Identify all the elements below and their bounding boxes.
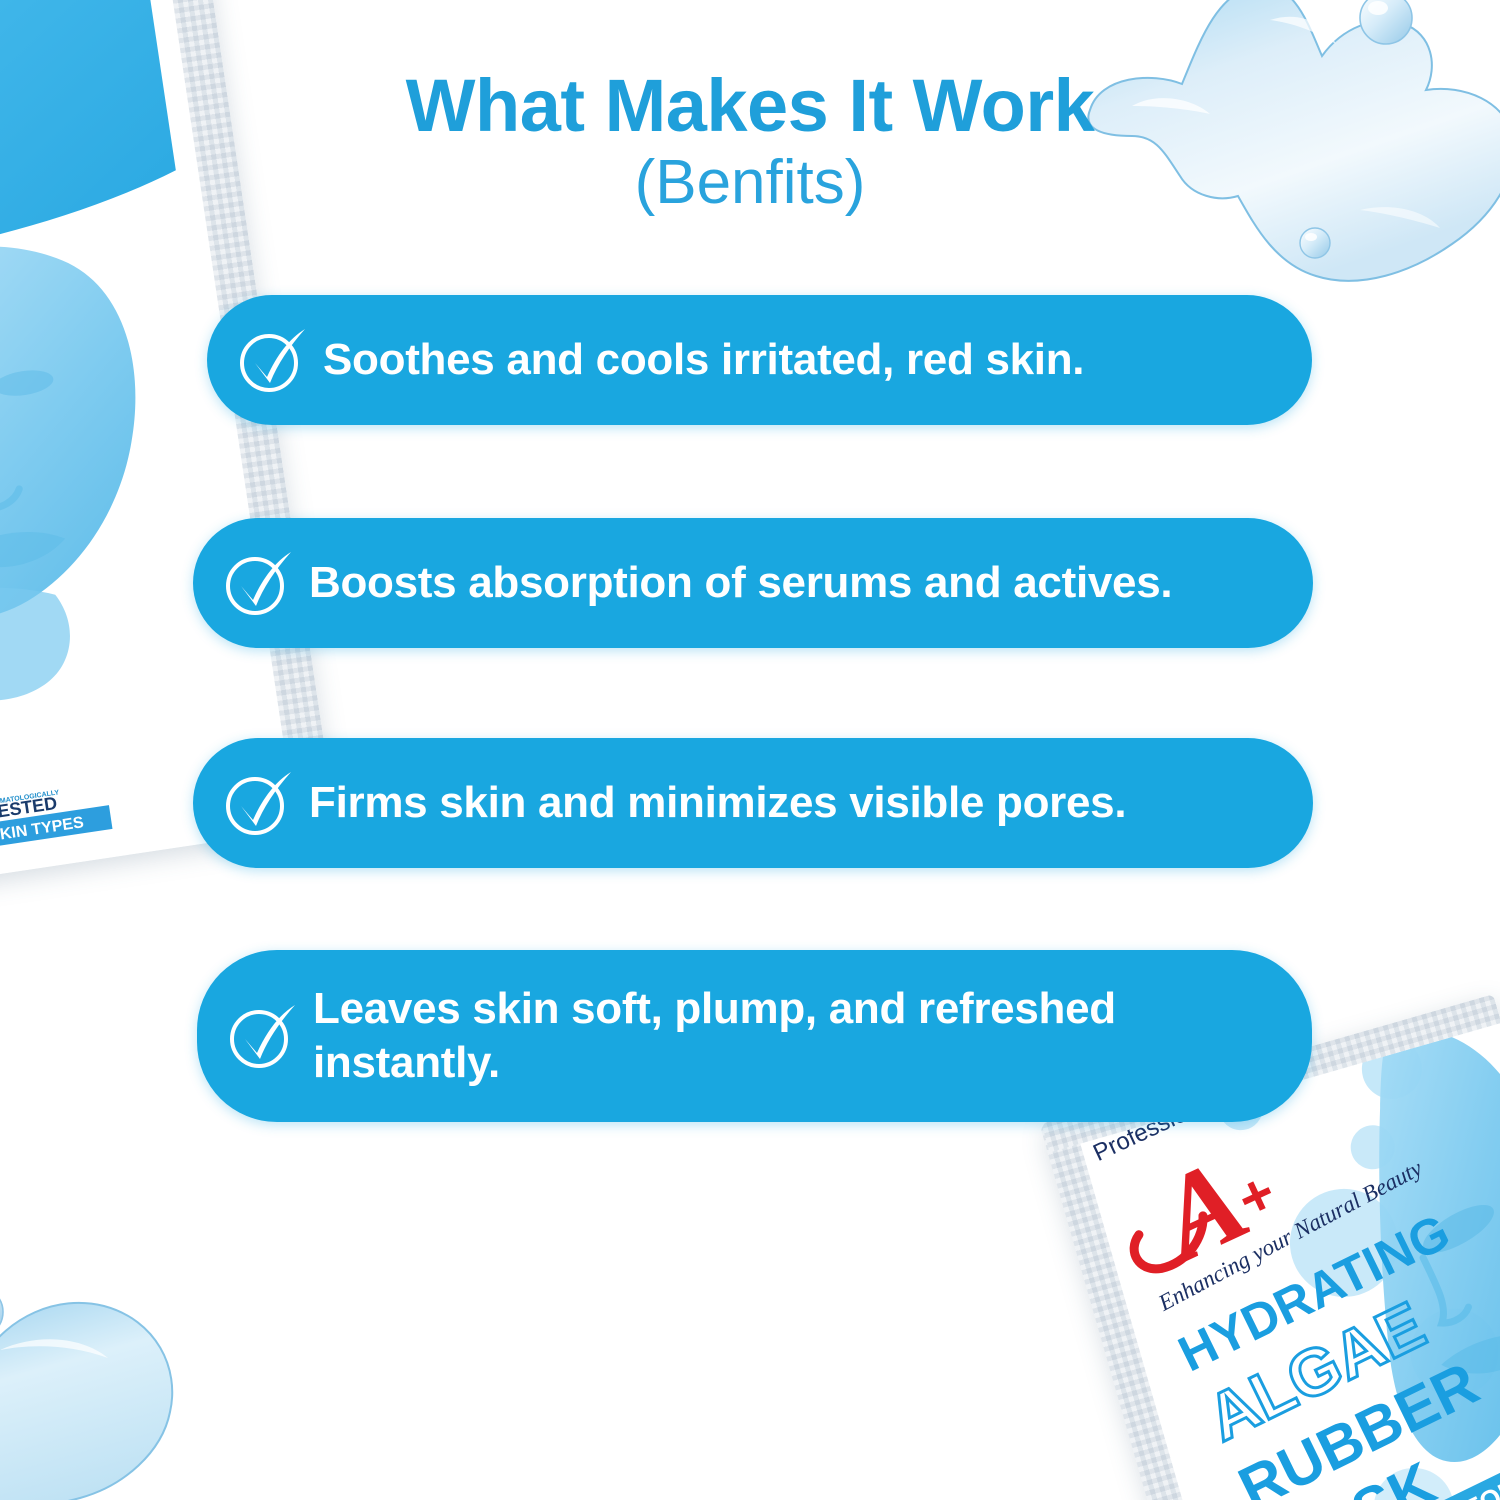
benefit-text: Leaves skin soft, plump, and refreshed i… xyxy=(313,982,1233,1089)
infographic-canvas: DERMATOLOGICALLY TESTED ALL SKIN TYPES xyxy=(0,0,1500,1500)
check-circle-icon xyxy=(235,323,309,397)
benefit-text: Soothes and cools irritated, red skin. xyxy=(323,333,1124,387)
benefit-item[interactable]: Firms skin and minimizes visible pores. xyxy=(193,738,1313,868)
benefit-item[interactable]: Boosts absorption of serums and actives. xyxy=(193,518,1313,648)
check-circle-icon xyxy=(225,999,299,1073)
page-title: What Makes It Work xyxy=(0,68,1500,143)
check-circle-icon xyxy=(221,546,295,620)
check-circle-icon xyxy=(221,766,295,840)
water-splash-bottom-left-icon xyxy=(0,1240,280,1500)
benefit-text: Firms skin and minimizes visible pores. xyxy=(309,776,1166,830)
page-subtitle: (Benfits) xyxy=(0,147,1500,218)
benefit-item[interactable]: Soothes and cools irritated, red skin. xyxy=(207,295,1312,425)
benefit-text: Boosts absorption of serums and actives. xyxy=(309,556,1212,610)
benefit-item[interactable]: Leaves skin soft, plump, and refreshed i… xyxy=(197,950,1312,1122)
page-title-block: What Makes It Work (Benfits) xyxy=(0,68,1500,219)
